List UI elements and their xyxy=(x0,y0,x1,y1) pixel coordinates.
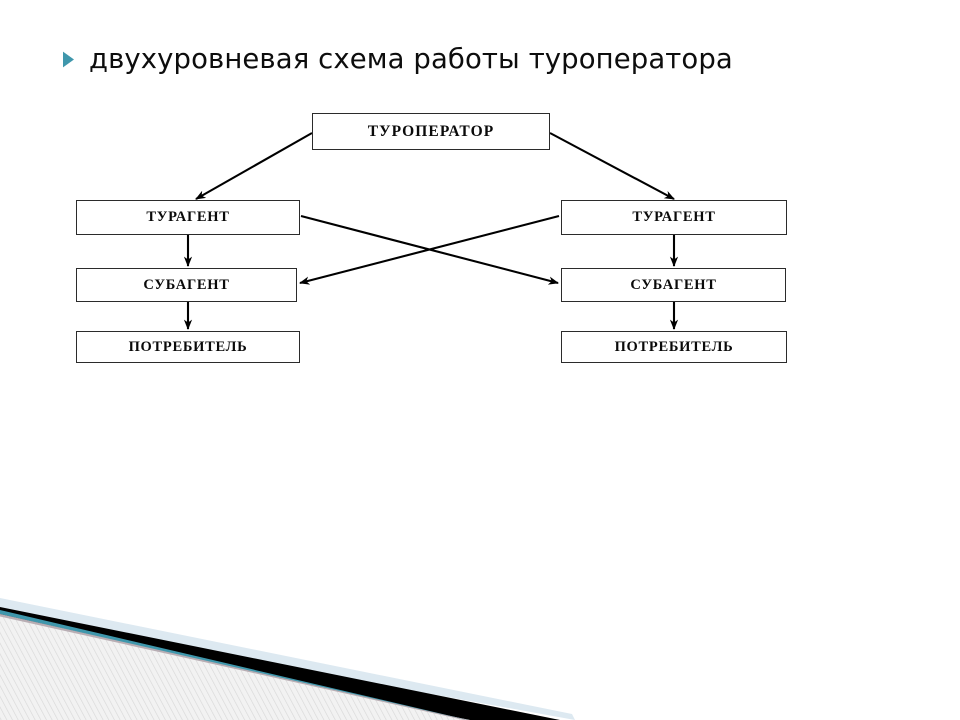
two-level-tour-operator-diagram: ТУРОПЕРАТОР ТУРАГЕНТ ТУРАГЕНТ СУБАГЕНТ С… xyxy=(0,0,960,460)
decoration-hairline xyxy=(0,614,468,720)
decoration-hatched-area xyxy=(0,615,466,720)
connector-operator-to-turagent-right xyxy=(550,133,674,199)
node-label-turagent-right: ТУРАГЕНТ xyxy=(632,209,715,226)
node-consumer-left[interactable]: ПОТРЕБИТЕЛЬ xyxy=(76,331,300,363)
node-consumer-right[interactable]: ПОТРЕБИТЕЛЬ xyxy=(561,331,787,363)
decoration-band-light xyxy=(0,598,575,720)
connector-operator-to-turagent-left xyxy=(196,133,312,199)
decoration-band-dark xyxy=(0,607,560,720)
decoration-band-accent xyxy=(0,610,468,720)
node-subagent-right[interactable]: СУБАГЕНТ xyxy=(561,268,786,302)
node-label-consumer-right: ПОТРЕБИТЕЛЬ xyxy=(615,339,734,356)
slide-canvas: двухуровневая схема работы туроператора xyxy=(0,0,960,720)
node-label-subagent-left: СУБАГЕНТ xyxy=(143,277,229,294)
node-label-tour-operator: ТУРОПЕРАТОР xyxy=(368,123,495,141)
node-label-turagent-left: ТУРАГЕНТ xyxy=(146,209,229,226)
node-turagent-right[interactable]: ТУРАГЕНТ xyxy=(561,200,787,235)
node-turagent-left[interactable]: ТУРАГЕНТ xyxy=(76,200,300,235)
slide-bottom-decoration xyxy=(0,580,960,720)
node-label-subagent-right: СУБАГЕНТ xyxy=(630,277,716,294)
node-label-consumer-left: ПОТРЕБИТЕЛЬ xyxy=(129,339,248,356)
node-tour-operator[interactable]: ТУРОПЕРАТОР xyxy=(312,113,550,150)
node-subagent-left[interactable]: СУБАГЕНТ xyxy=(76,268,297,302)
